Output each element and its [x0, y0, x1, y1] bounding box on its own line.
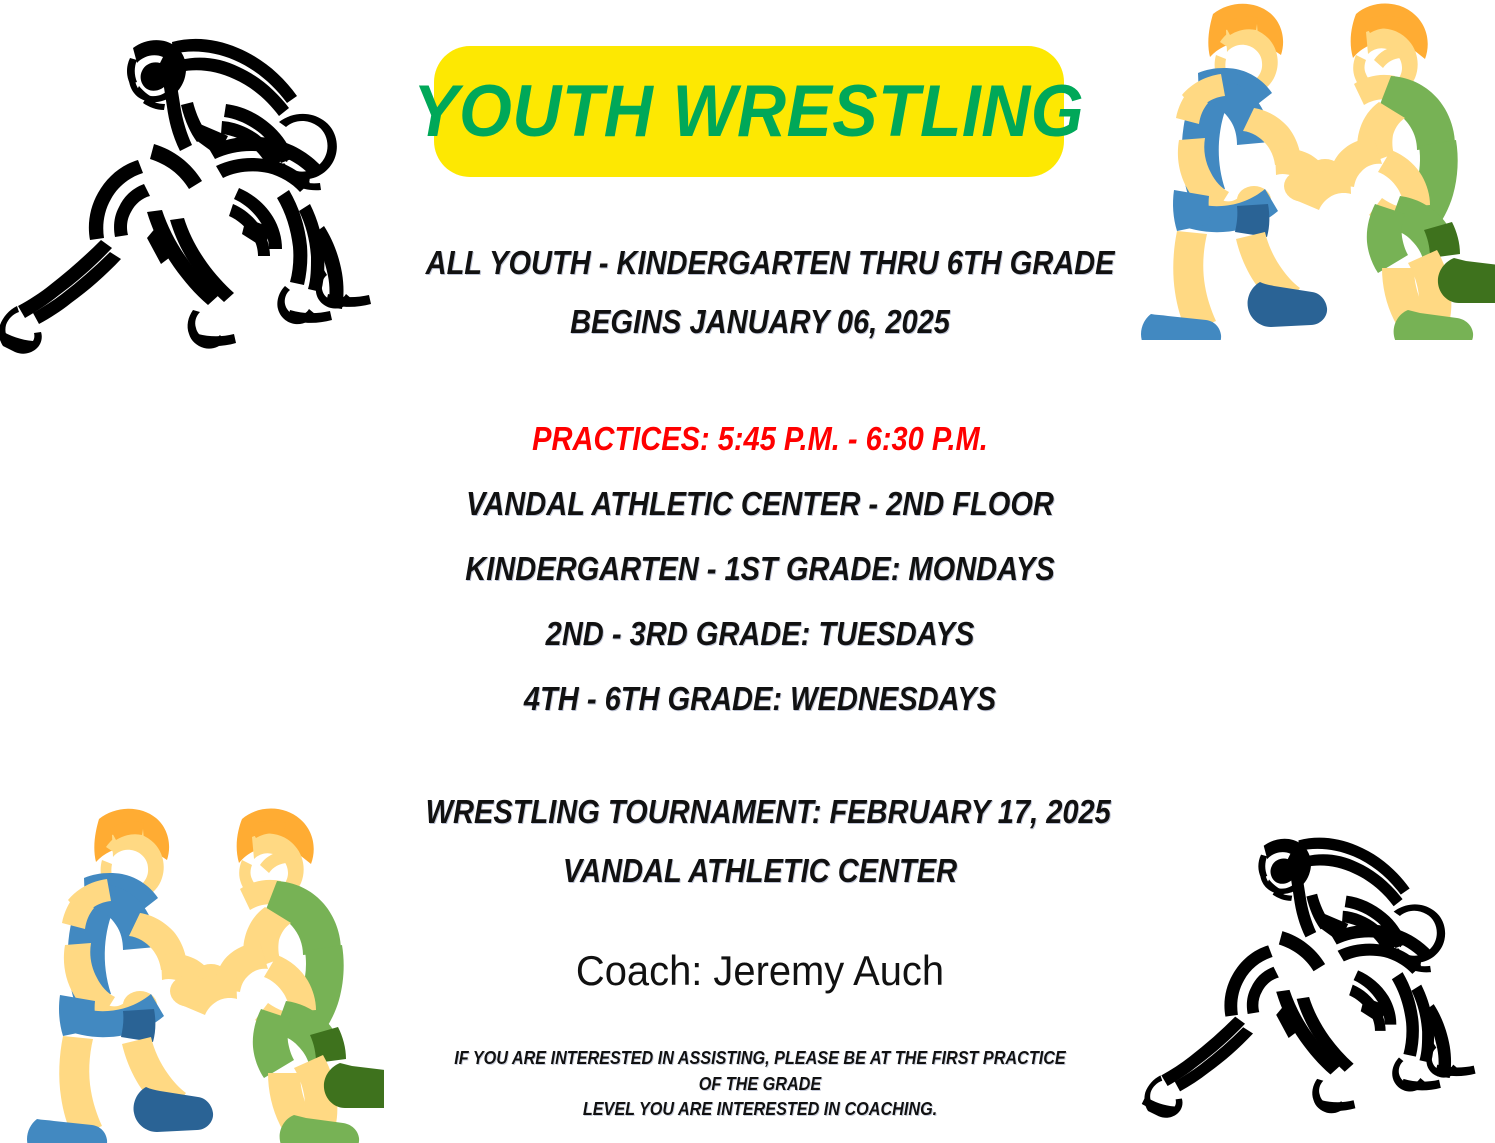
tournament-date-line: WRESTLING TOURNAMENT: FEBRUARY 17, 2025 [426, 795, 1095, 828]
wrestlers-lineart-icon [0, 14, 394, 359]
poster-canvas: YOUTH WRESTLING ALL YOUTH - KINDERGARTEN… [0, 0, 1495, 1143]
tournament-venue-line: VANDAL ATHLETIC CENTER [426, 854, 1095, 887]
assisting-note-line2: LEVEL YOU ARE INTERESTED IN COACHING. [445, 1097, 1075, 1123]
schedule-line-2-3: 2ND - 3RD GRADE: TUESDAYS [426, 617, 1095, 650]
practice-location-line: VANDAL ATHLETIC CENTER - 2ND FLOOR [426, 487, 1095, 520]
page-title: YOUTH WRESTLING [414, 75, 1085, 148]
wrestlers-emoji-icon [1138, 0, 1495, 340]
title-banner: YOUTH WRESTLING [434, 46, 1064, 177]
assisting-note-line1: IF YOU ARE INTERESTED IN ASSISTING, PLEA… [445, 1046, 1075, 1097]
schedule-line-4-6: 4TH - 6TH GRADE: WEDNESDAYS [426, 682, 1095, 715]
schedule-line-k-1: KINDERGARTEN - 1ST GRADE: MONDAYS [426, 552, 1095, 585]
wrestlers-lineart-icon [1140, 795, 1495, 1143]
assisting-note: IF YOU ARE INTERESTED IN ASSISTING, PLEA… [445, 1046, 1075, 1123]
wrestlers-emoji-icon [22, 805, 384, 1143]
practice-times-line: PRACTICES: 5:45 P.M. - 6:30 P.M. [426, 422, 1095, 455]
flyer-body: ALL YOUTH - KINDERGARTEN THRU 6TH GRADE … [380, 246, 1140, 1143]
eligibility-line: ALL YOUTH - KINDERGARTEN THRU 6TH GRADE [426, 246, 1095, 279]
coach-line: Coach: Jeremy Auch [399, 950, 1121, 992]
start-date-line: BEGINS JANUARY 06, 2025 [426, 305, 1095, 338]
